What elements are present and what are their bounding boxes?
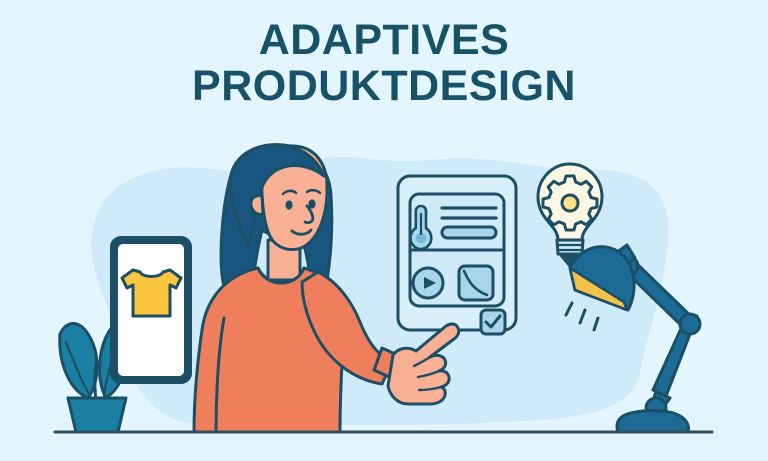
pill-button[interactable]: [442, 227, 496, 238]
phone-mockup: [110, 236, 192, 384]
gear-icon: [543, 176, 597, 230]
checkbox-icon[interactable]: [481, 310, 505, 334]
plant-pot: [68, 398, 126, 432]
bulb-base: [557, 240, 583, 254]
lamp-base: [617, 411, 689, 432]
slider-tile-icon[interactable]: [459, 266, 493, 300]
control-panel[interactable]: [398, 176, 516, 334]
illustration-canvas: ADAPTIVES PRODUKTDESIGN: [0, 0, 768, 461]
scene-illustration: [0, 0, 768, 461]
gear-core: [562, 195, 578, 211]
lamp-elbow-joint: [680, 314, 700, 334]
ear: [251, 195, 263, 214]
play-button-icon[interactable]: [413, 268, 443, 298]
eye-left: [285, 200, 292, 209]
